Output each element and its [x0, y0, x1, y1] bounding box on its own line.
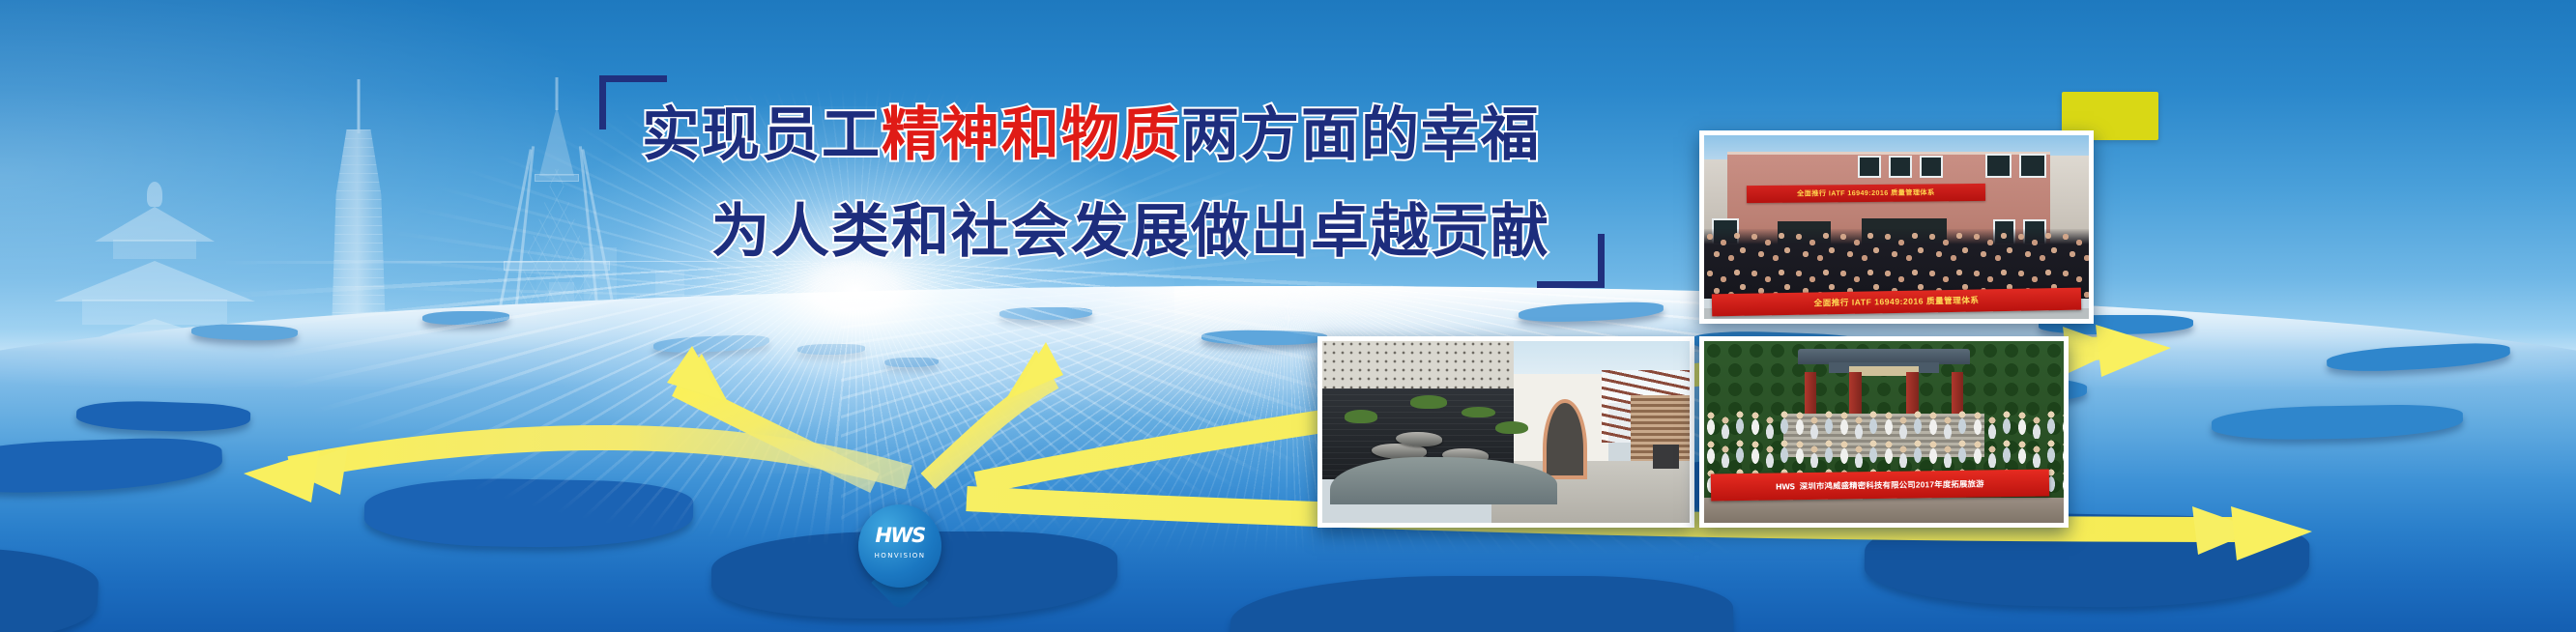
headline-line1-part2: 精神和物质	[882, 101, 1181, 169]
landmass	[2211, 404, 2463, 442]
headline-line1-part3: 两方面的幸福	[1181, 101, 1541, 169]
trip-banner: HWS 深圳市鸿威盛精密科技有限公司2017年度拓展旅游	[1711, 470, 2049, 502]
headline-line2-part1: 为人类和社会发展做出卓越贡献	[711, 198, 1550, 266]
pin-label: HWS HONVISION	[858, 526, 941, 561]
logo-mark: HWS	[875, 524, 924, 547]
headline-block: 实现员工精神和物质两方面的幸福 为人类和社会发展做出卓越贡献	[599, 75, 1605, 288]
trip-banner-text: 深圳市鸿威盛精密科技有限公司2017年度拓展旅游	[1800, 478, 1984, 493]
sun-burst	[855, 290, 856, 291]
headline-line-1: 实现员工精神和物质两方面的幸福	[642, 106, 1541, 164]
photo-factory-group[interactable]: 全面推行 IATF 16949:2016 质量管理体系 全面推行 IATF 16…	[1699, 130, 2094, 324]
landmass	[0, 535, 100, 632]
iatf-banner-top: 全面推行 IATF 16949:2016 质量管理体系	[1747, 184, 1985, 203]
photo-annual-trip-group[interactable]: HWS 深圳市鸿威盛精密科技有限公司2017年度拓展旅游	[1699, 336, 2069, 528]
hws-map-pin-logo[interactable]: HWS HONVISION	[858, 504, 941, 605]
photo-courtyard-garden[interactable]	[1317, 336, 1694, 528]
hws-logo-small: HWS	[1776, 482, 1795, 491]
headline-line1-part1: 实现员工	[642, 101, 882, 169]
headline-line-2: 为人类和社会发展做出卓越贡献	[711, 203, 1550, 261]
logo-name: HONVISION	[875, 552, 926, 560]
company-culture-banner: 实现员工精神和物质两方面的幸福 为人类和社会发展做出卓越贡献 全面推行 IATF…	[0, 0, 2576, 632]
